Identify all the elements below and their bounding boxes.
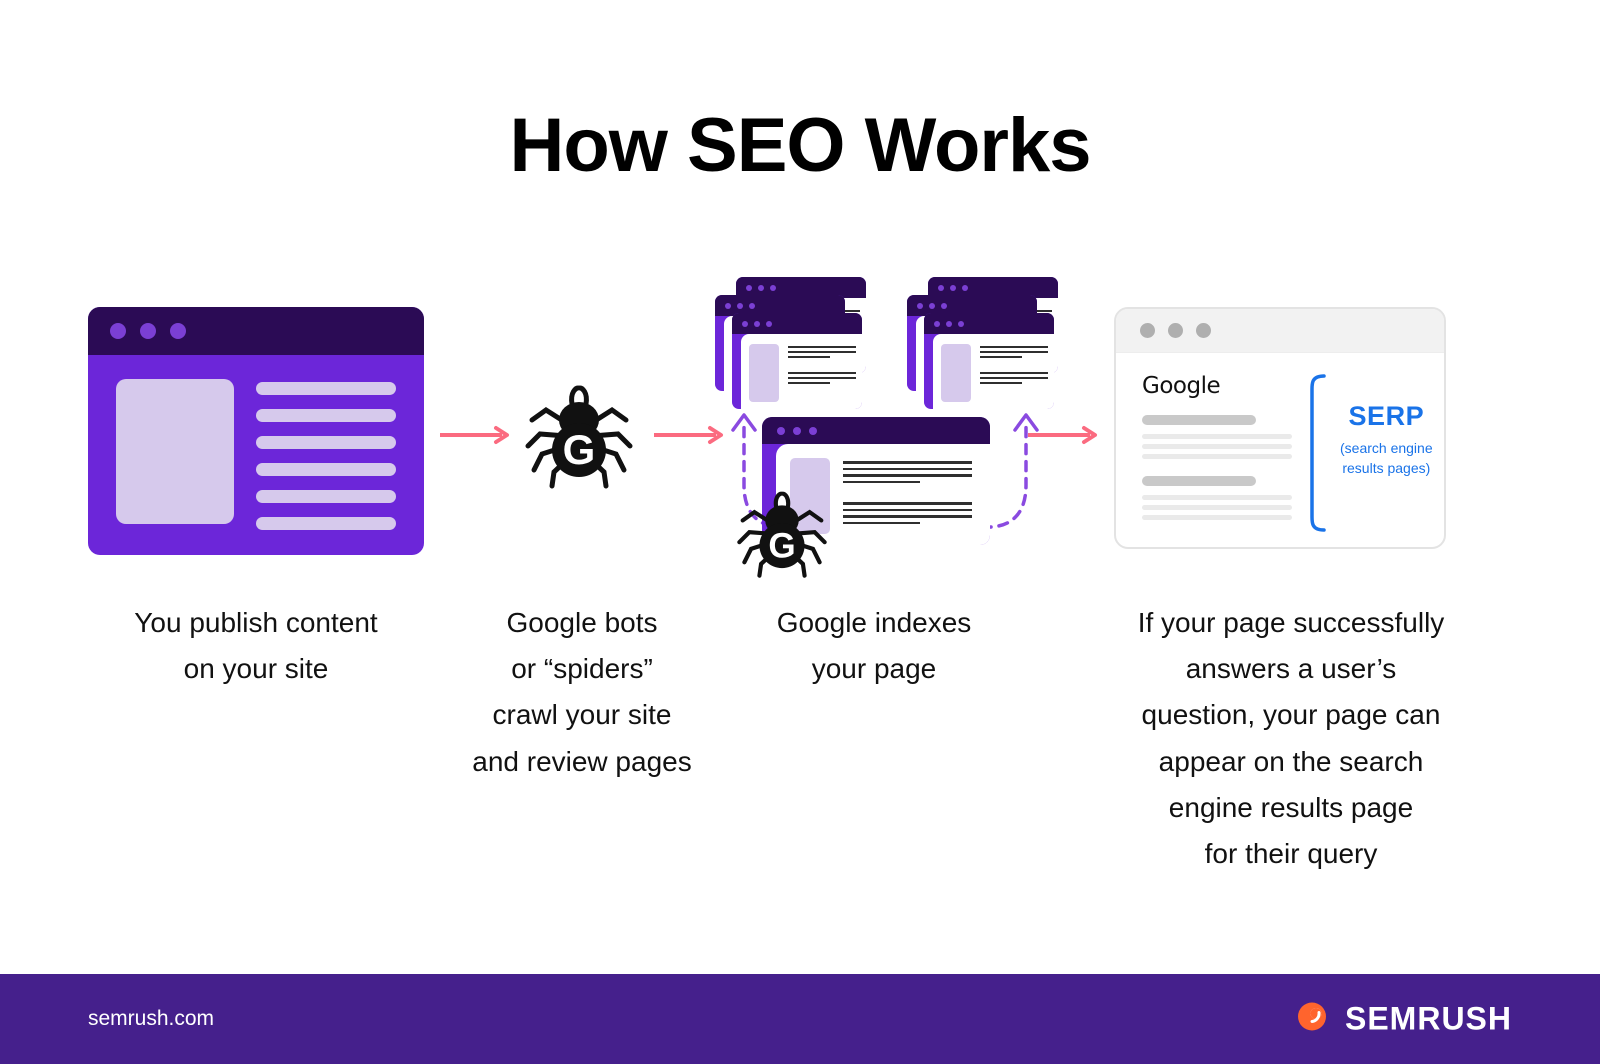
serp-sublabel-line: (search engine <box>1340 438 1433 458</box>
text-line <box>980 382 1022 384</box>
window-dot-icon <box>929 303 935 309</box>
text-line <box>843 474 972 477</box>
result-line <box>1142 515 1292 520</box>
text-line <box>788 382 830 384</box>
window-dot-icon <box>938 285 944 291</box>
flow-arrow-icon <box>1028 425 1100 445</box>
text-line <box>843 515 972 518</box>
browser-content <box>88 355 424 530</box>
diagram-stage: G <box>0 265 1600 585</box>
window-dot-icon <box>110 323 126 339</box>
content-image-placeholder <box>116 379 234 524</box>
window-dot-icon <box>737 303 743 309</box>
text-line <box>788 377 856 379</box>
google-spider-bot-icon: G <box>524 380 634 495</box>
window-dot-icon <box>758 285 764 291</box>
infographic-canvas: How SEO Works <box>0 0 1600 1064</box>
result-line <box>1142 444 1292 449</box>
spider-g-letter: G <box>563 426 596 473</box>
text-line <box>256 436 396 449</box>
window-dot-icon <box>793 427 801 435</box>
spider-g-letter: G <box>768 526 795 565</box>
window-dot-icon <box>934 321 940 327</box>
result-line <box>1142 454 1292 459</box>
caption-line: on your site <box>70 646 442 692</box>
serp-browser-window: Google <box>1114 307 1446 549</box>
browser-title-bar <box>924 313 1054 334</box>
window-dot-icon <box>170 323 186 339</box>
serp-bracket-icon <box>1302 373 1328 538</box>
browser-content <box>933 334 1054 409</box>
browser-title-bar <box>732 313 862 334</box>
text-line <box>980 372 1048 374</box>
publish-browser-window <box>88 307 424 555</box>
window-dot-icon <box>746 285 752 291</box>
caption-line: Google indexes <box>740 600 1008 646</box>
serp-sublabel-line: results pages) <box>1340 458 1433 478</box>
text-line <box>980 351 1048 353</box>
window-dot-icon <box>1140 323 1155 338</box>
window-dot-icon <box>950 285 956 291</box>
semrush-wordmark: SEMRUSH <box>1345 1001 1512 1038</box>
window-dot-icon <box>725 303 731 309</box>
text-line <box>843 468 972 471</box>
result-title-placeholder <box>1142 476 1256 486</box>
text-line <box>843 522 920 525</box>
flow-arrow-icon <box>654 425 726 445</box>
text-line <box>980 356 1022 358</box>
caption-line: or “spiders” <box>452 646 712 692</box>
window-dot-icon <box>958 321 964 327</box>
text-line <box>788 351 856 353</box>
serp-result-item <box>1142 476 1292 520</box>
indexed-pages-stack-left <box>694 277 862 405</box>
content-image-placeholder <box>941 344 971 402</box>
text-line <box>256 463 396 476</box>
content-text-placeholder <box>843 458 990 545</box>
indexed-pages-stack-right <box>886 277 1054 405</box>
google-logo-text: Google <box>1142 375 1292 398</box>
caption-index: Google indexes your page <box>740 600 1008 692</box>
result-line <box>1142 495 1292 500</box>
text-line <box>843 509 972 512</box>
serp-content: Google <box>1116 353 1444 538</box>
text-line <box>788 372 856 374</box>
window-dot-icon <box>777 427 785 435</box>
flow-arrow-icon <box>440 425 512 445</box>
text-line <box>843 461 972 464</box>
caption-line: If your page successfully <box>1046 600 1536 646</box>
caption-line: and review pages <box>452 739 712 785</box>
window-dot-icon <box>749 303 755 309</box>
text-line <box>843 502 972 505</box>
browser-title-bar <box>762 417 990 444</box>
window-dots <box>88 307 424 355</box>
caption-line: for their query <box>1046 831 1536 877</box>
indexed-page-window <box>732 313 862 409</box>
window-dot-icon <box>941 303 947 309</box>
result-line <box>1142 505 1292 510</box>
footer-bar: semrush.com SEMRUSH <box>0 974 1600 1064</box>
browser-title-bar <box>88 307 424 355</box>
caption-line: engine results page <box>1046 785 1536 831</box>
window-dot-icon <box>770 285 776 291</box>
caption-line: answers a user’s <box>1046 646 1536 692</box>
serp-result-item <box>1142 415 1292 459</box>
caption-line: appear on the search <box>1046 739 1536 785</box>
google-spider-bot-icon: G <box>736 487 828 584</box>
window-dot-icon <box>962 285 968 291</box>
text-line <box>256 382 396 395</box>
footer-url[interactable]: semrush.com <box>88 1007 214 1031</box>
content-text-placeholder <box>980 344 1054 409</box>
caption-crawl: Google bots or “spiders” crawl your site… <box>452 600 712 785</box>
content-text-placeholder <box>256 379 396 530</box>
caption-line: crawl your site <box>452 692 712 738</box>
text-line <box>980 377 1048 379</box>
serp-results-list: Google <box>1142 375 1292 538</box>
result-title-placeholder <box>1142 415 1256 425</box>
serp-sublabel: (search engine results pages) <box>1340 438 1433 479</box>
window-dot-icon <box>1168 323 1183 338</box>
browser-content <box>741 334 862 409</box>
caption-line: your page <box>740 646 1008 692</box>
window-dot-icon <box>742 321 748 327</box>
content-image-placeholder <box>749 344 779 402</box>
text-line <box>843 481 920 484</box>
window-dot-icon <box>766 321 772 327</box>
window-dot-icon <box>946 321 952 327</box>
semrush-comet-icon <box>1285 1000 1331 1039</box>
caption-line: Google bots <box>452 600 712 646</box>
window-dot-icon <box>754 321 760 327</box>
content-text-placeholder <box>788 344 862 409</box>
browser-title-bar <box>1116 309 1444 353</box>
semrush-logo[interactable]: SEMRUSH <box>1285 1000 1512 1039</box>
indexed-page-window <box>924 313 1054 409</box>
page-title: How SEO Works <box>0 104 1600 188</box>
text-line <box>788 346 856 348</box>
window-dot-icon <box>1196 323 1211 338</box>
result-line <box>1142 434 1292 439</box>
caption-line: question, your page can <box>1046 692 1536 738</box>
serp-label: SERP <box>1340 401 1433 432</box>
text-line <box>256 490 396 503</box>
caption-publish: You publish content on your site <box>70 600 442 692</box>
text-line <box>256 409 396 422</box>
text-line <box>980 346 1048 348</box>
text-line <box>788 356 830 358</box>
window-dot-icon <box>140 323 156 339</box>
window-dot-icon <box>809 427 817 435</box>
window-dot-icon <box>917 303 923 309</box>
serp-label-group: SERP (search engine results pages) <box>1340 375 1433 538</box>
text-line <box>256 517 396 530</box>
caption-line: You publish content <box>70 600 442 646</box>
caption-rank: If your page successfully answers a user… <box>1046 600 1536 877</box>
